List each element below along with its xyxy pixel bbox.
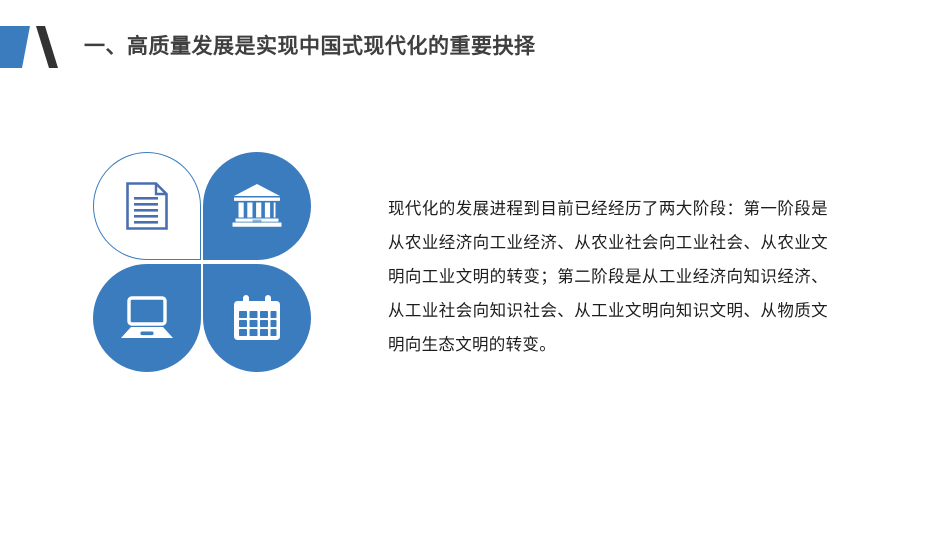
- body-paragraph: 现代化的发展进程到目前已经经历了两大阶段：第一阶段是从农业经济向工业经济、从农业…: [388, 192, 828, 362]
- bank-building-icon: [230, 183, 284, 229]
- angled-bar-marker-icon: [0, 24, 66, 70]
- calendar-icon: [232, 294, 282, 342]
- four-petal-icon-cluster: [93, 152, 311, 372]
- petal-top-right[interactable]: [203, 152, 311, 260]
- page-title: 一、高质量发展是实现中国式现代化的重要抉择: [84, 32, 536, 62]
- petal-bottom-left[interactable]: [93, 264, 201, 372]
- document-icon: [125, 181, 169, 231]
- laptop-icon: [119, 295, 175, 341]
- slide-canvas: 一、高质量发展是实现中国式现代化的重要抉择: [0, 0, 950, 535]
- slide-header: 一、高质量发展是实现中国式现代化的重要抉择: [0, 0, 950, 92]
- petal-bottom-right[interactable]: [203, 264, 311, 372]
- petal-top-left[interactable]: [93, 152, 201, 260]
